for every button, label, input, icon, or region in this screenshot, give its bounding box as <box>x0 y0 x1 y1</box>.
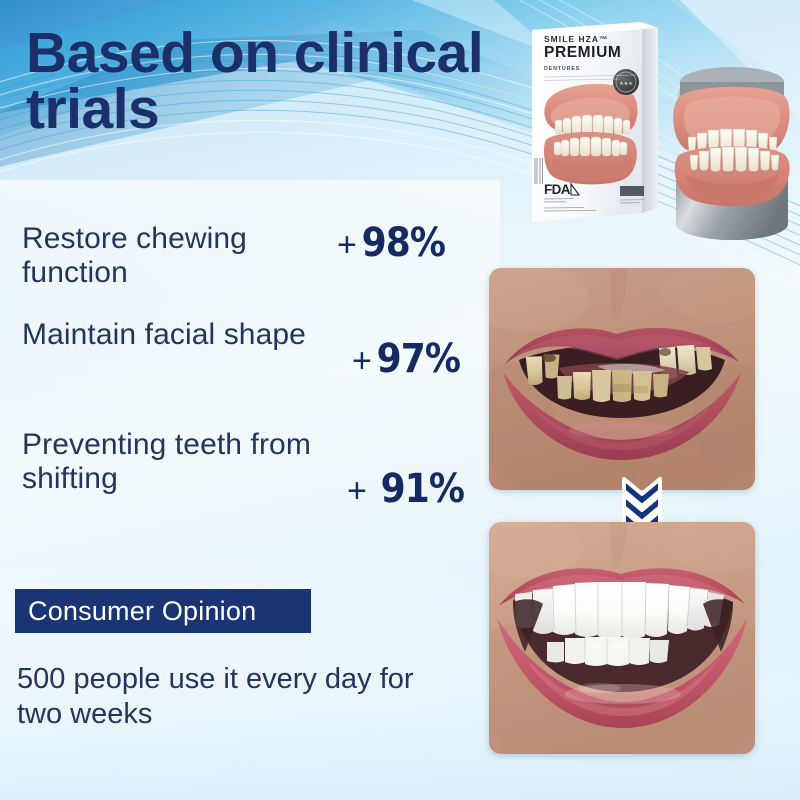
benefit-row: Restore chewing function +98% <box>22 222 472 318</box>
box-category: DENTURES <box>544 66 580 72</box>
consumer-opinion-label: Consumer Opinion <box>28 596 256 627</box>
fda-logo-text: FDA <box>544 182 571 197</box>
headline-line-2: trials <box>26 82 496 138</box>
advertisement-canvas: Based on clinical trials <box>0 0 800 800</box>
after-photo-illustration <box>489 522 755 754</box>
headline-line-1: Based on clinical <box>26 21 483 85</box>
before-photo <box>489 268 755 490</box>
benefit-percent: +98% <box>337 220 450 266</box>
benefit-row: Maintain facial shape +97% <box>22 318 472 428</box>
consumer-opinion-subtext: 500 people use it every day for two week… <box>17 662 447 732</box>
page-title: Based on clinical trials <box>26 26 496 138</box>
benefit-value: 98% <box>361 220 444 266</box>
benefit-plus-sign: + <box>347 472 367 510</box>
denture-model <box>673 67 789 240</box>
benefits-list: Restore chewing function +98% Maintain f… <box>22 222 472 508</box>
svg-text:★★★: ★★★ <box>619 81 633 87</box>
benefit-value: 97% <box>376 336 459 382</box>
benefit-label: Preventing teeth from shifting <box>22 428 322 496</box>
benefit-plus-sign: + <box>352 342 372 380</box>
after-photo <box>489 522 755 754</box>
benefit-label: Restore chewing function <box>22 222 322 290</box>
product-package: ★★★ SMILE HZA™ PREMIUM DENTURES FDA <box>520 8 800 243</box>
benefit-plus-sign: + <box>337 226 357 264</box>
before-photo-illustration <box>489 268 755 490</box>
status-badge: Consumer Opinion <box>15 589 311 633</box>
benefit-percent: +97% <box>352 336 465 382</box>
product-box-illustration: ★★★ SMILE HZA™ PREMIUM DENTURES FDA <box>520 8 800 243</box>
box-brand: SMILE HZA™ <box>544 34 609 44</box>
box-tier: PREMIUM <box>544 44 621 61</box>
benefit-row: Preventing teeth from shifting + 91% <box>22 428 472 508</box>
benefit-label: Maintain facial shape <box>22 318 322 352</box>
benefit-percent: + 91% <box>347 466 469 512</box>
benefit-value: 91% <box>381 466 464 512</box>
